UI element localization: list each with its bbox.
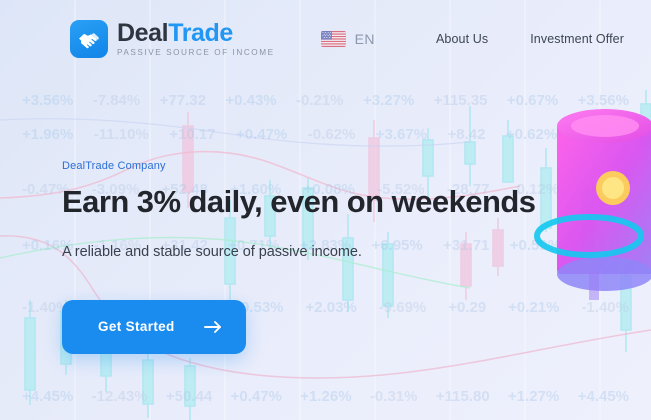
logo-word-trade: Trade bbox=[168, 19, 233, 47]
us-flag-icon bbox=[321, 31, 346, 47]
ticker-value: +4.45% bbox=[22, 388, 73, 405]
ticker-value: +1.96% bbox=[22, 126, 73, 143]
ticker-value: -7.84% bbox=[93, 92, 141, 109]
logo[interactable]: DealTrade PASSIVE SOURCE OF INCOME bbox=[70, 20, 275, 58]
ticker-value: +1.27% bbox=[508, 388, 559, 405]
nav-item-about-us[interactable]: About Us bbox=[436, 32, 488, 46]
ticker-value: -0.31% bbox=[370, 388, 418, 405]
3d-coin-cylinder-illustration bbox=[527, 96, 651, 326]
logo-tagline: PASSIVE SOURCE OF INCOME bbox=[117, 49, 275, 57]
arrow-right-icon bbox=[204, 320, 222, 334]
ticker-value: +3.27% bbox=[363, 92, 414, 109]
ticker-value: +77.32 bbox=[160, 92, 206, 109]
logo-word-deal: Deal bbox=[117, 19, 168, 47]
ticker-value: +1.26% bbox=[300, 388, 351, 405]
ticker-value: -11.10% bbox=[94, 126, 149, 143]
ticker-value: +115.35 bbox=[434, 92, 488, 109]
ticker-value: -0.62% bbox=[308, 126, 356, 143]
ticker-value: +3.67% bbox=[376, 126, 427, 143]
main-nav: About Us Investment Offer bbox=[436, 32, 629, 46]
ticker-value: +0.47% bbox=[231, 388, 282, 405]
ticker-value: +0.47% bbox=[236, 126, 287, 143]
nav-item-investment-offer[interactable]: Investment Offer bbox=[530, 32, 624, 46]
ticker-value: +0.43% bbox=[225, 92, 276, 109]
language-code: EN bbox=[355, 31, 375, 47]
ticker-value: -12.43% bbox=[92, 388, 148, 405]
ticker-value: +10.17 bbox=[169, 126, 215, 143]
ticker-row: +4.45%-12.43%+50.44+0.47%+1.26%-0.31%+11… bbox=[0, 388, 651, 405]
hero-section: DealTrade Company Earn 3% daily, even on… bbox=[62, 160, 535, 354]
ticker-value: +50.44 bbox=[166, 388, 212, 405]
get-started-button[interactable]: Get Started bbox=[62, 300, 246, 354]
handshake-icon bbox=[70, 20, 108, 58]
ticker-value: -0.21% bbox=[296, 92, 344, 109]
ticker-value: +3.56% bbox=[22, 92, 73, 109]
ticker-value: +115.80 bbox=[436, 388, 490, 405]
ticker-value: +4.45% bbox=[578, 388, 629, 405]
language-selector[interactable]: EN bbox=[321, 31, 375, 47]
page-title: Earn 3% daily, even on weekends bbox=[62, 185, 535, 220]
hero-eyebrow: DealTrade Company bbox=[62, 160, 535, 172]
ticker-value: +8.42 bbox=[447, 126, 485, 143]
site-header: DealTrade PASSIVE SOURCE OF INCOME bbox=[0, 0, 651, 78]
hero-subheadline: A reliable and stable source of passive … bbox=[62, 244, 535, 260]
get-started-label: Get Started bbox=[98, 319, 175, 334]
